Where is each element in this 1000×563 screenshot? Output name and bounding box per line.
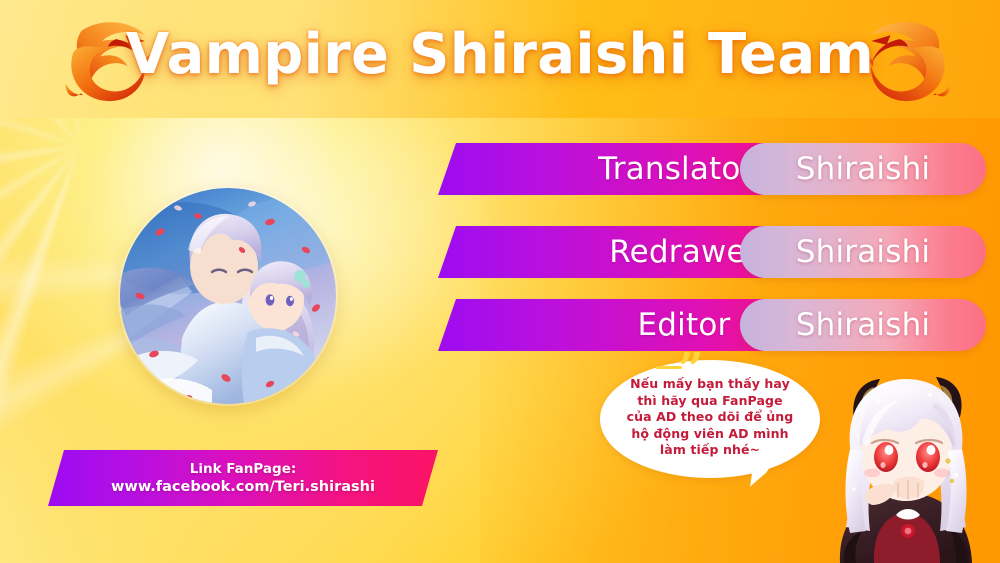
bubble-line: hộ động viên AD mình [610,426,810,443]
credit-name-label: Shiraishi [740,226,986,278]
fanpage-label: Link FanPage: [190,461,297,477]
credit-name-pill: Shiraishi [740,143,986,195]
page-title: Vampire Shiraishi Team [0,22,1000,87]
speech-bubble: ” Nếu mấy bạn thấy hay thì hãy qua FanPa… [600,352,820,484]
chibi-character [810,355,1000,563]
credit-row-redrawer: Redrawer Shiraishi [438,226,986,278]
fanpage-link-text[interactable]: Link FanPage: www.facebook.com/Teri.shir… [48,450,438,506]
credit-name-label: Shiraishi [740,143,986,195]
fanpage-url[interactable]: www.facebook.com/Teri.shirashi [111,479,375,495]
bubble-line: thì hãy qua FanPage [610,393,810,410]
speech-bubble-text: Nếu mấy bạn thấy hay thì hãy qua FanPage… [610,376,810,459]
bubble-line: của AD theo dõi để ủng [610,409,810,426]
credit-name-label: Shiraishi [740,299,986,351]
credit-name-pill: Shiraishi [740,226,986,278]
banner-image: Vampire Shiraishi Team [0,0,1000,563]
speech-bubble-tail [750,459,774,490]
credit-row-editor: Editor Shiraishi [438,299,986,351]
credit-row-translators: Translators Shiraishi [438,143,986,195]
bubble-line: làm tiếp nhé~ [610,442,810,459]
credit-name-pill: Shiraishi [740,299,986,351]
bubble-line: Nếu mấy bạn thấy hay [610,376,810,393]
avatar [120,188,336,404]
